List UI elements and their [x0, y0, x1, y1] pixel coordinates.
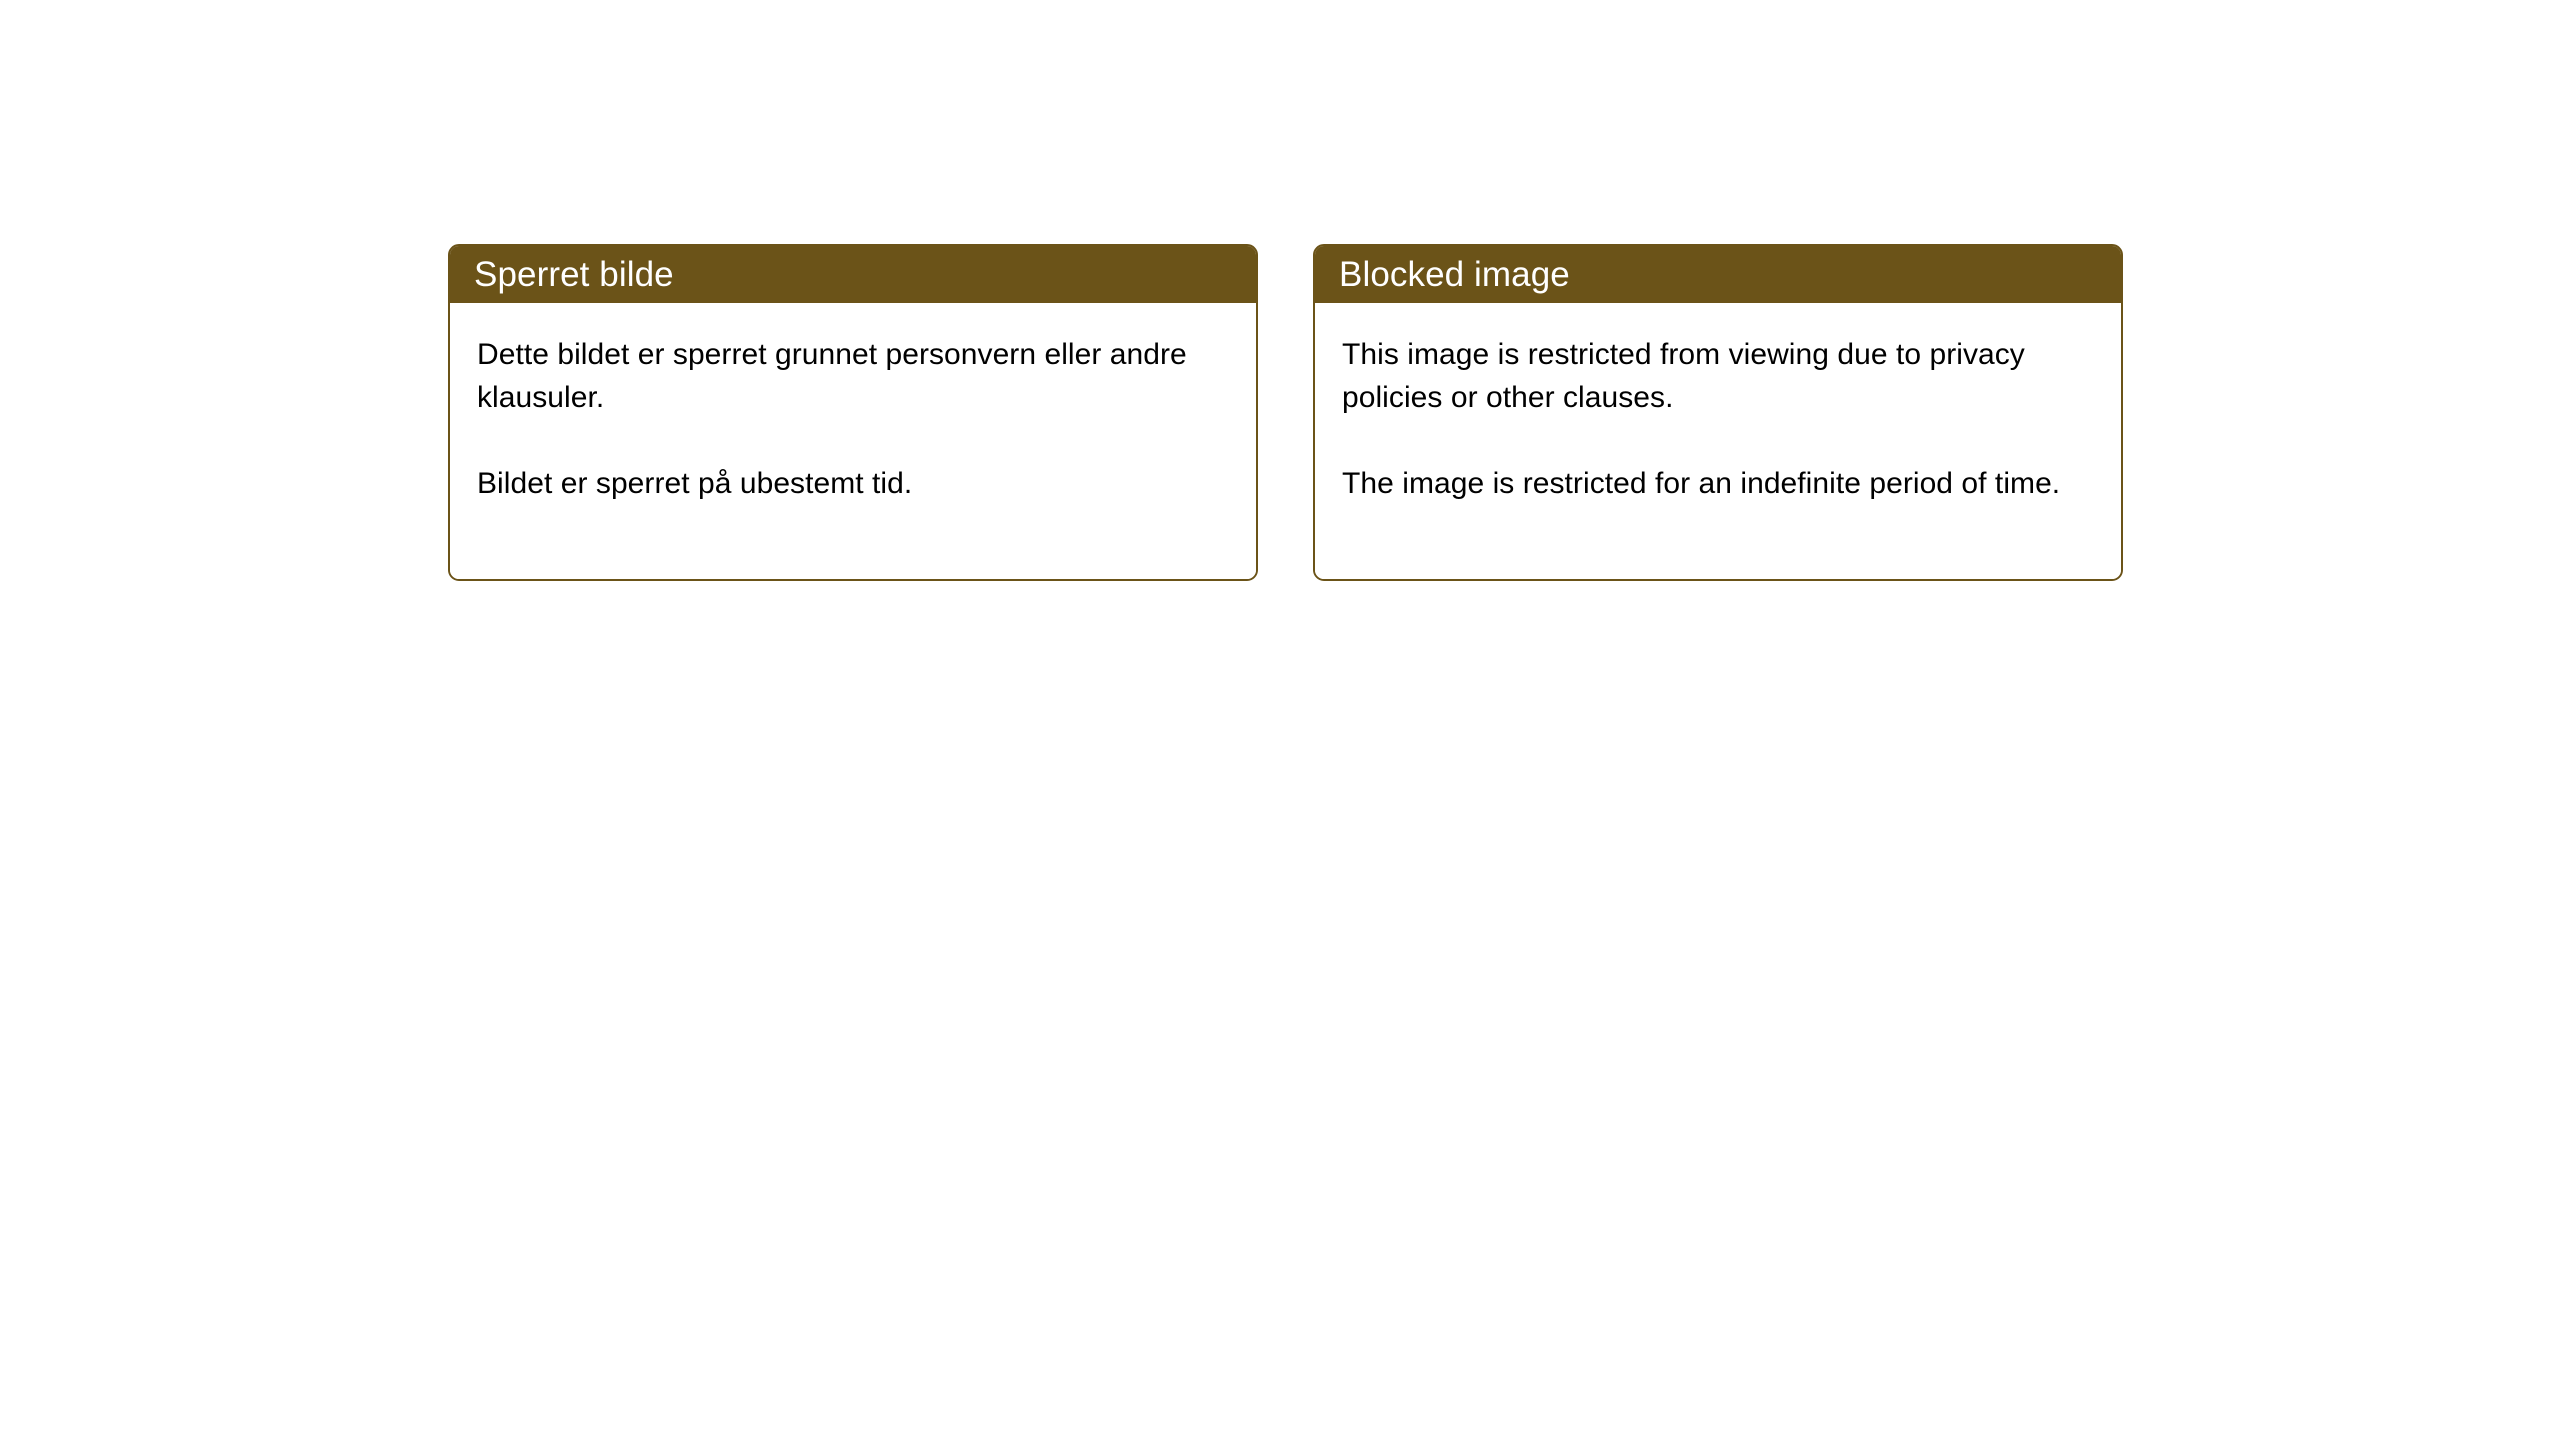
blocked-image-notice-card-english: Blocked image This image is restricted f…: [1313, 244, 2123, 581]
card-body-english: This image is restricted from viewing du…: [1315, 303, 2121, 579]
card-paragraph-duration-english: The image is restricted for an indefinit…: [1342, 462, 2095, 505]
card-title-english: Blocked image: [1339, 255, 1570, 295]
card-paragraph-reason-english: This image is restricted from viewing du…: [1342, 333, 2095, 419]
page-canvas: Sperret bilde Dette bildet er sperret gr…: [0, 0, 2560, 1440]
card-header-english: Blocked image: [1315, 246, 2121, 303]
card-title-norwegian: Sperret bilde: [474, 255, 674, 295]
card-header-norwegian: Sperret bilde: [450, 246, 1256, 303]
card-paragraph-reason-norwegian: Dette bildet er sperret grunnet personve…: [477, 333, 1230, 419]
card-paragraph-duration-norwegian: Bildet er sperret på ubestemt tid.: [477, 462, 1230, 505]
paragraph-spacer: [1342, 419, 2095, 462]
card-body-norwegian: Dette bildet er sperret grunnet personve…: [450, 303, 1256, 579]
paragraph-spacer: [477, 419, 1230, 462]
blocked-image-notice-card-norwegian: Sperret bilde Dette bildet er sperret gr…: [448, 244, 1258, 581]
